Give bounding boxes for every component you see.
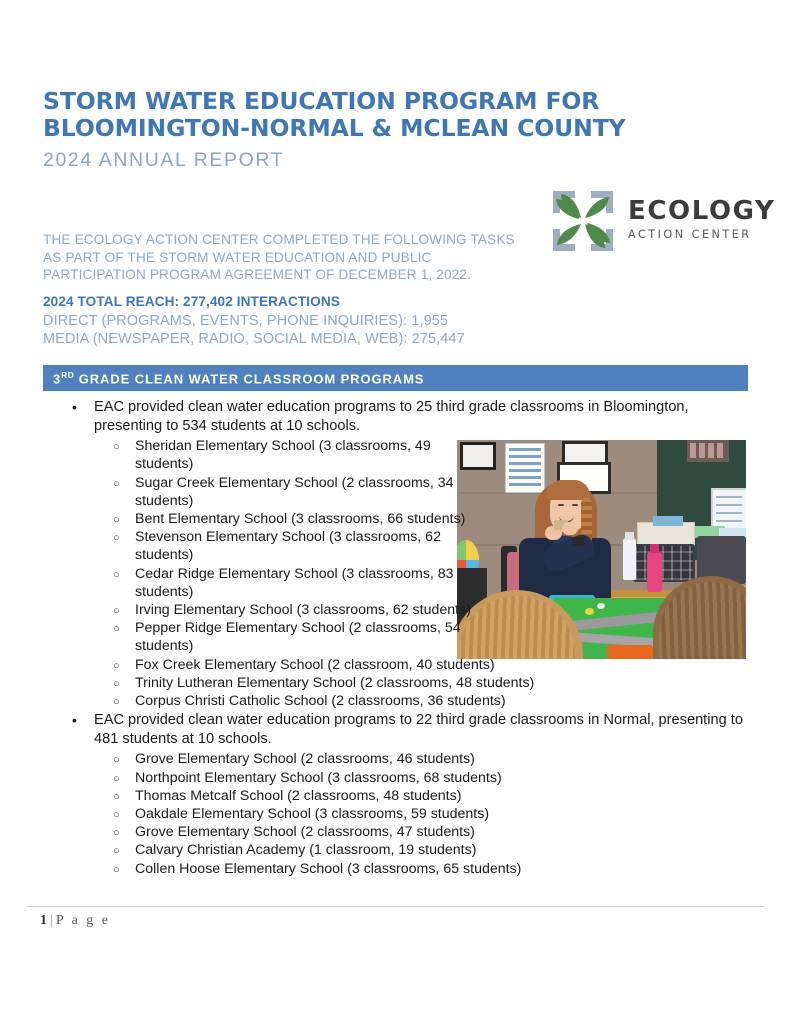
list-item: • EAC provided clean water education pro… bbox=[43, 398, 748, 710]
school-entry: Oakdale Elementary School (3 classrooms,… bbox=[135, 805, 748, 823]
list-item: ○ Northpoint Elementary School (3 classr… bbox=[94, 769, 748, 787]
page-title: STORM WATER EDUCATION PROGRAM FOR BLOOMI… bbox=[43, 88, 663, 142]
school-entry: Grove Elementary School (2 classrooms, 4… bbox=[135, 823, 748, 841]
school-sublist-normal: ○ Grove Elementary School (2 classrooms,… bbox=[94, 750, 748, 877]
school-entry: Calvary Christian Academy (1 classroom, … bbox=[135, 841, 748, 859]
section-header-label: 3RD GRADE CLEAN WATER CLASSROOM PROGRAMS bbox=[53, 370, 424, 386]
logo-name: ECOLOGY bbox=[628, 197, 775, 225]
list-item: ○ Fox Creek Elementary School (2 classro… bbox=[94, 656, 748, 674]
intro-paragraph: THE ECOLOGY ACTION CENTER COMPLETED THE … bbox=[43, 231, 518, 284]
sub-bullet-marker: ○ bbox=[113, 751, 120, 769]
logo-wordmark: ECOLOGY ACTION CENTER bbox=[628, 197, 775, 241]
list-item: ○ Sugar Creek Elementary School (2 class… bbox=[94, 474, 490, 510]
section-heading-rest: GRADE CLEAN WATER CLASSROOM PROGRAMS bbox=[74, 371, 424, 386]
list-item: ○ Thomas Metcalf School (2 classrooms, 4… bbox=[94, 787, 748, 805]
media-reach-line: MEDIA (NEWSPAPER, RADIO, SOCIAL MEDIA, W… bbox=[43, 330, 543, 349]
document-subtitle: 2024 ANNUAL REPORT bbox=[43, 149, 663, 172]
school-entry: Sheridan Elementary School (3 classrooms… bbox=[135, 437, 490, 473]
list-item: ○ Grove Elementary School (2 classrooms,… bbox=[94, 750, 748, 768]
school-entry: Cedar Ridge Elementary School (3 classro… bbox=[135, 565, 490, 601]
total-reach-block: 2024 TOTAL REACH: 277,402 INTERACTIONS D… bbox=[43, 293, 543, 349]
footer-separator: | bbox=[50, 913, 53, 928]
sub-bullet-marker: ○ bbox=[113, 675, 120, 693]
school-entry: Sugar Creek Elementary School (2 classro… bbox=[135, 474, 490, 510]
sub-bullet-marker: ○ bbox=[113, 438, 120, 456]
section-heading-superscript: RD bbox=[61, 370, 74, 380]
sub-bullet-marker: ○ bbox=[113, 657, 120, 675]
footer-page-number: 1|P a g e bbox=[40, 913, 111, 929]
report-body: • EAC provided clean water education pro… bbox=[43, 398, 748, 879]
list-item: ○ Grove Elementary School (2 classrooms,… bbox=[94, 823, 748, 841]
sub-bullet-marker: ○ bbox=[113, 529, 120, 547]
title-line-2: BLOOMINGTON-NORMAL & MCLEAN COUNTY bbox=[43, 115, 663, 142]
four-leaf-clover-icon bbox=[546, 184, 620, 258]
footer-page-word: P a g e bbox=[56, 913, 111, 928]
list-item: ○ Calvary Christian Academy (1 classroom… bbox=[94, 841, 748, 859]
sub-bullet-marker: ○ bbox=[113, 511, 120, 529]
footer-divider bbox=[27, 906, 764, 907]
list-item: ○ Trinity Lutheran Elementary School (2 … bbox=[94, 674, 748, 692]
school-entry: Collen Hoose Elementary School (3 classr… bbox=[135, 860, 748, 878]
school-entry: Trinity Lutheran Elementary School (2 cl… bbox=[135, 674, 748, 692]
sub-bullet-marker: ○ bbox=[113, 566, 120, 584]
list-item: ○ Cedar Ridge Elementary School (3 class… bbox=[94, 565, 490, 601]
school-entry: Thomas Metcalf School (2 classrooms, 48 … bbox=[135, 787, 748, 805]
section-heading-prefix: 3 bbox=[53, 371, 61, 386]
sub-bullet-marker: ○ bbox=[113, 806, 120, 824]
list-item: • EAC provided clean water education pro… bbox=[43, 711, 748, 878]
list-item: ○ Oakdale Elementary School (3 classroom… bbox=[94, 805, 748, 823]
bullet-text: EAC provided clean water education progr… bbox=[94, 398, 748, 435]
section-header-bar: 3RD GRADE CLEAN WATER CLASSROOM PROGRAMS bbox=[43, 365, 748, 391]
list-item: ○ Sheridan Elementary School (3 classroo… bbox=[94, 437, 490, 473]
school-entry: Stevenson Elementary School (3 classroom… bbox=[135, 528, 490, 564]
school-entry: Bent Elementary School (3 classrooms, 66… bbox=[135, 510, 490, 528]
document-page: STORM WATER EDUCATION PROGRAM FOR BLOOMI… bbox=[0, 0, 791, 1024]
school-sublist-bloomington: ○ Sheridan Elementary School (3 classroo… bbox=[94, 437, 748, 710]
school-entry: Fox Creek Elementary School (2 classroom… bbox=[135, 656, 748, 674]
school-entry: Pepper Ridge Elementary School (2 classr… bbox=[135, 619, 490, 655]
direct-reach-line: DIRECT (PROGRAMS, EVENTS, PHONE INQUIRIE… bbox=[43, 312, 543, 331]
total-reach-line: 2024 TOTAL REACH: 277,402 INTERACTIONS bbox=[43, 293, 543, 312]
sub-bullet-marker: ○ bbox=[113, 770, 120, 788]
list-item: ○ Bent Elementary School (3 classrooms, … bbox=[94, 510, 490, 528]
sub-bullet-marker: ○ bbox=[113, 620, 120, 638]
list-item: ○ Pepper Ridge Elementary School (2 clas… bbox=[94, 619, 490, 655]
school-entry: Corpus Christi Catholic School (2 classr… bbox=[135, 692, 748, 710]
school-entry: Northpoint Elementary School (3 classroo… bbox=[135, 769, 748, 787]
title-line-1: STORM WATER EDUCATION PROGRAM FOR bbox=[43, 87, 599, 115]
school-entry: Irving Elementary School (3 classrooms, … bbox=[135, 601, 490, 619]
sub-bullet-marker: ○ bbox=[113, 824, 120, 842]
ecology-action-center-logo: ECOLOGY ACTION CENTER bbox=[546, 184, 751, 262]
bullet-marker: • bbox=[72, 398, 77, 417]
list-item: ○ Corpus Christi Catholic School (2 clas… bbox=[94, 692, 748, 710]
document-header: STORM WATER EDUCATION PROGRAM FOR BLOOMI… bbox=[43, 88, 663, 172]
sub-bullet-marker: ○ bbox=[113, 788, 120, 806]
list-item: ○ Irving Elementary School (3 classrooms… bbox=[94, 601, 490, 619]
program-bullet-list: • EAC provided clean water education pro… bbox=[43, 398, 748, 878]
sub-bullet-marker: ○ bbox=[113, 842, 120, 860]
bullet-text: EAC provided clean water education progr… bbox=[94, 711, 748, 748]
school-entry: Grove Elementary School (2 classrooms, 4… bbox=[135, 750, 748, 768]
sub-bullet-marker: ○ bbox=[113, 475, 120, 493]
logo-tagline: ACTION CENTER bbox=[628, 228, 775, 241]
bullet-marker: • bbox=[72, 711, 77, 730]
list-item: ○ Stevenson Elementary School (3 classro… bbox=[94, 528, 490, 564]
footer-number: 1 bbox=[40, 913, 47, 928]
sub-bullet-marker: ○ bbox=[113, 861, 120, 879]
list-item: ○ Collen Hoose Elementary School (3 clas… bbox=[94, 860, 748, 878]
sub-bullet-marker: ○ bbox=[113, 693, 120, 711]
sub-bullet-marker: ○ bbox=[113, 602, 120, 620]
